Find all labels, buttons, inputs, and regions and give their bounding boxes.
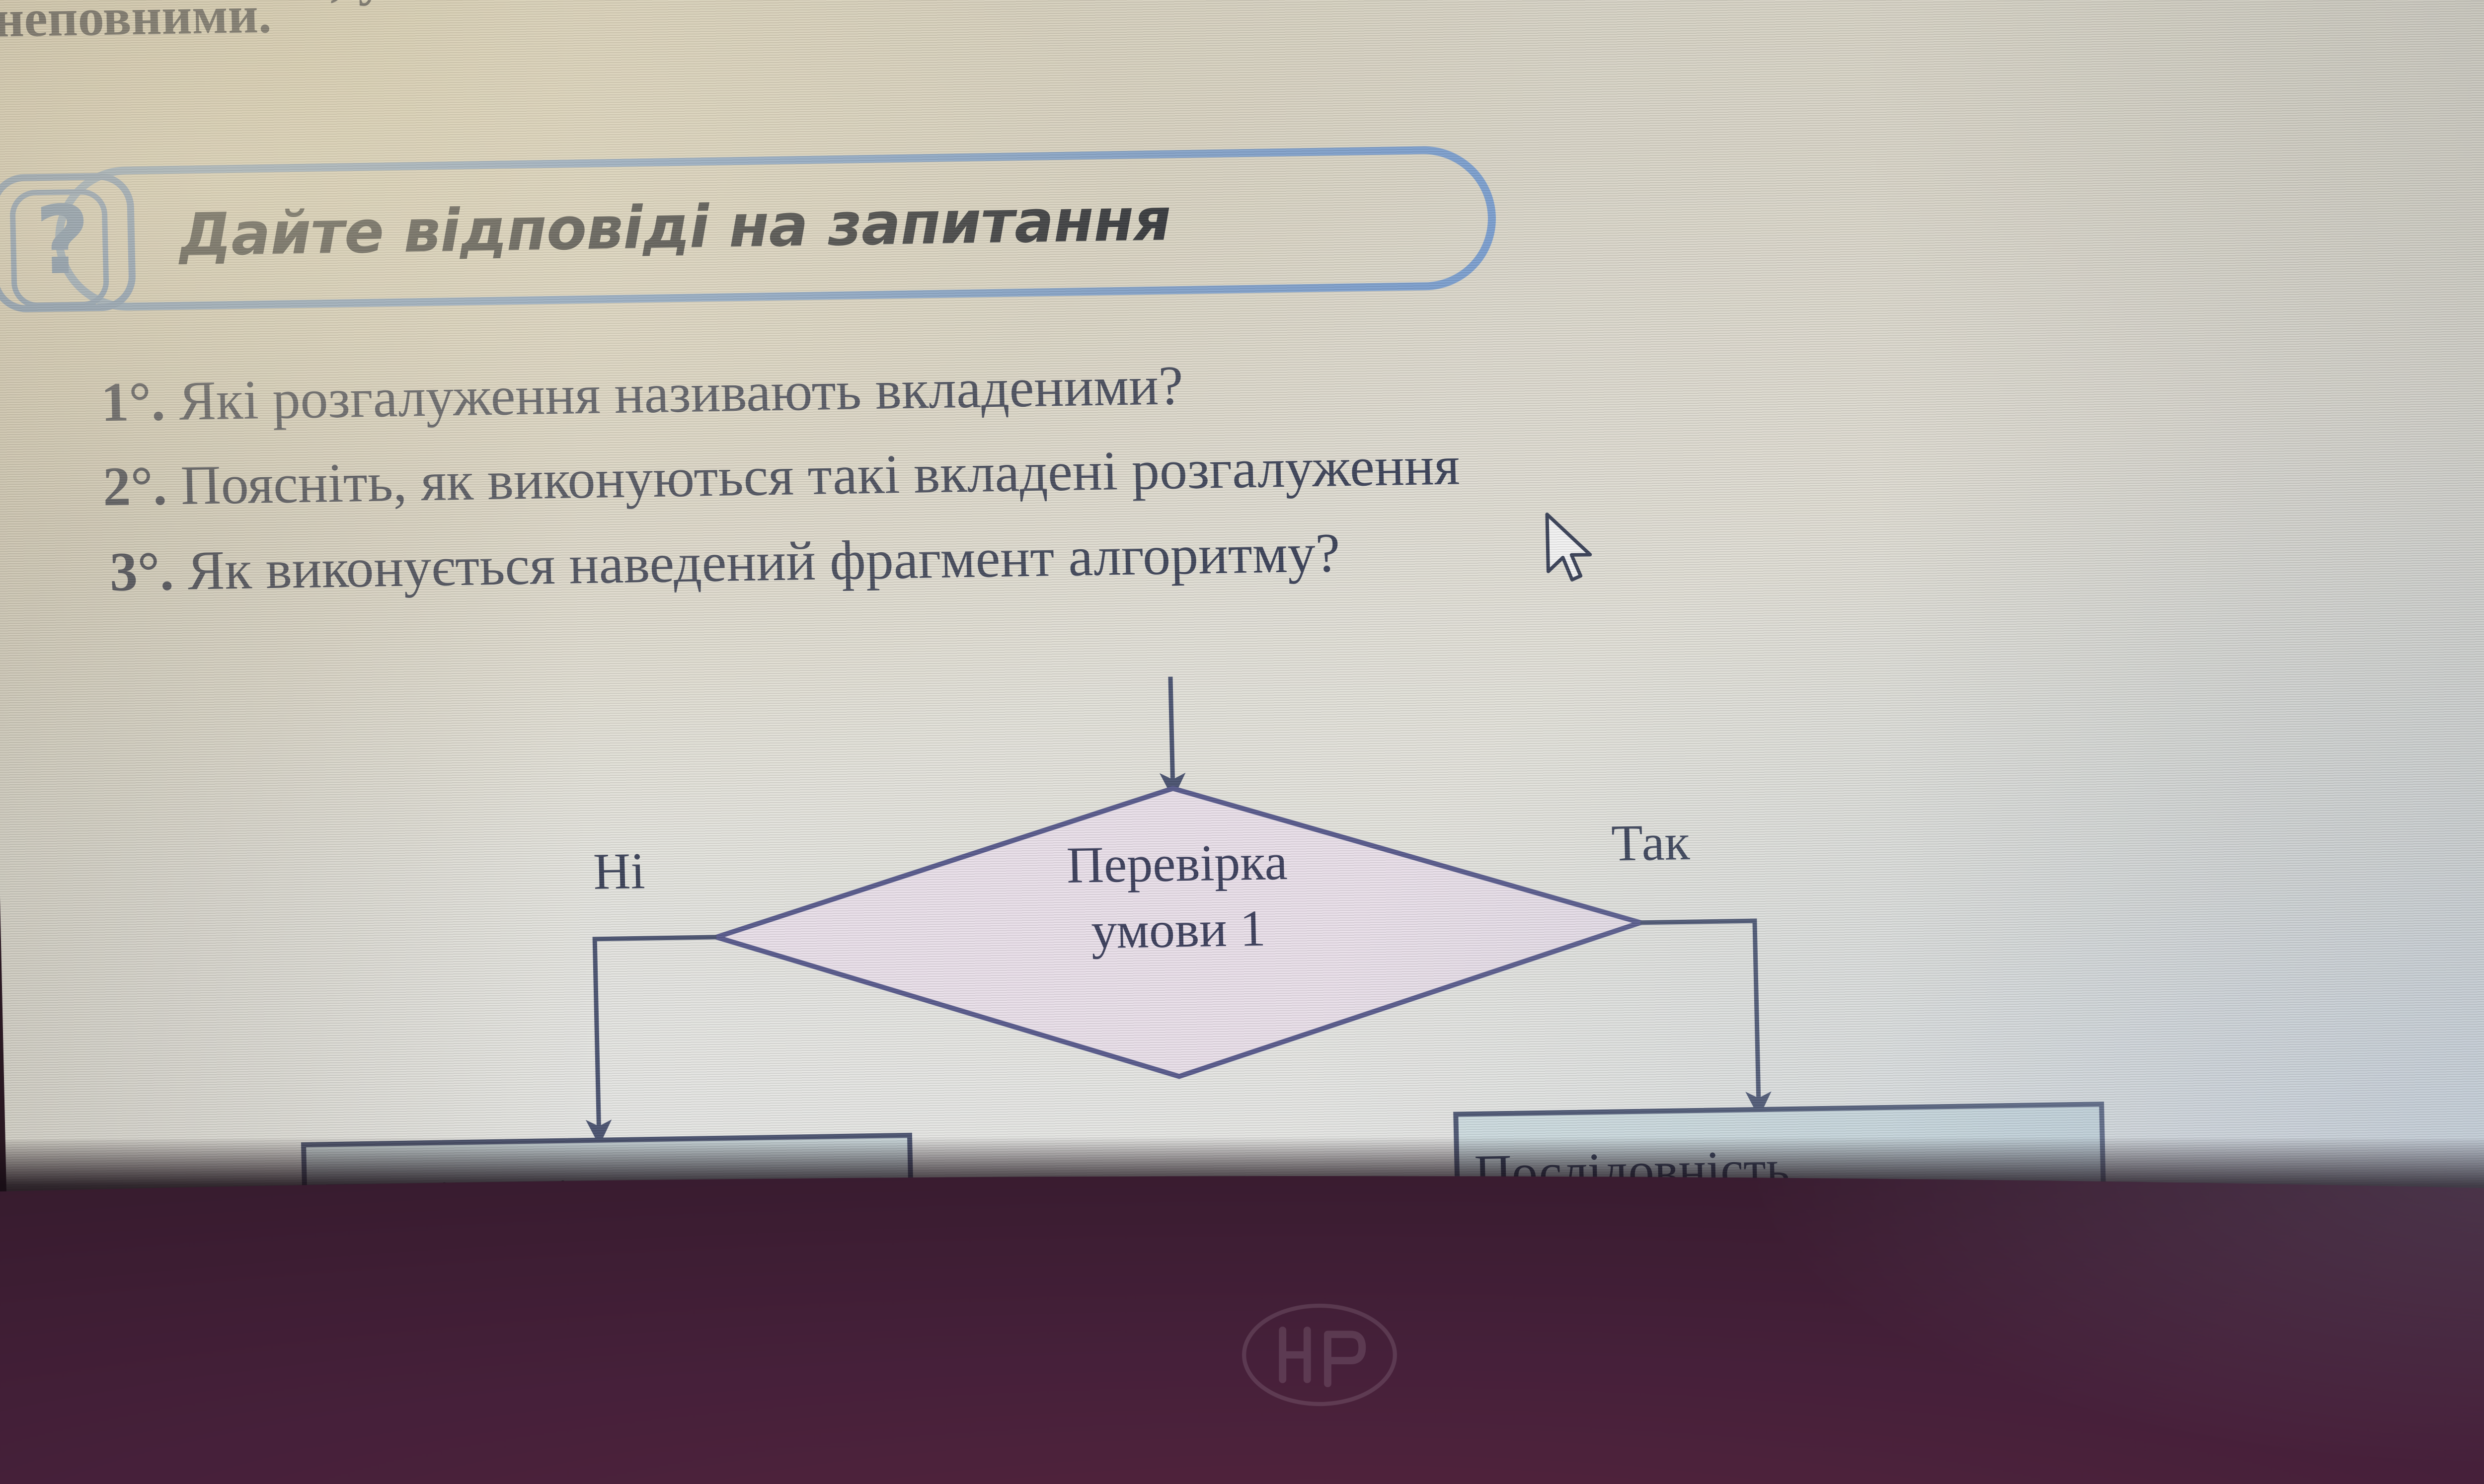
connector-no-branch: [595, 937, 720, 1133]
mouse-cursor: [1542, 511, 1603, 592]
decision-label-line1: Перевірка: [928, 827, 1426, 901]
textbook-page: Розвилки, у яких і неповними. ? Дайте ві…: [0, 0, 2484, 1256]
algorithm-flowchart: Перевірка умови 1 Ні Так Послідовність П…: [0, 0, 2484, 1256]
branch-label-no: Ні: [593, 841, 646, 901]
laptop-photo: Розвилки, у яких і неповними. ? Дайте ві…: [0, 0, 2484, 1484]
connector-entry-arrow: [1170, 677, 1173, 786]
decision-label-line2: умови 1: [930, 893, 1428, 967]
branch-label-yes: Так: [1611, 813, 1690, 873]
decision-label: Перевірка умови 1: [928, 827, 1428, 967]
laptop-screen: Розвилки, у яких і неповними. ? Дайте ві…: [0, 0, 2484, 1256]
hp-logo: [1238, 1300, 1401, 1410]
connector-yes-branch: [1640, 921, 1759, 1107]
